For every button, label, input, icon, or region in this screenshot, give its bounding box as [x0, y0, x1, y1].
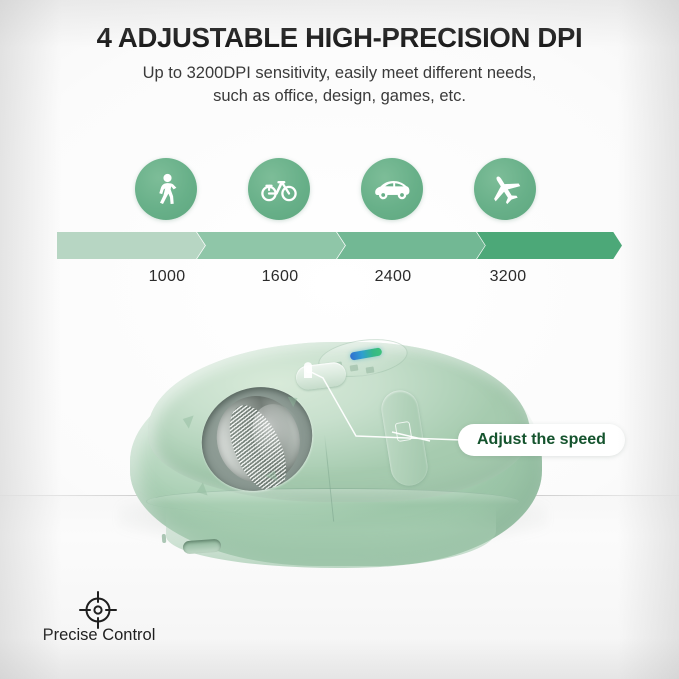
subtitle-line-2: such as office, design, games, etc.	[0, 85, 679, 108]
dpi-segment-2	[197, 232, 345, 259]
usb-c-port	[183, 539, 222, 555]
subtitle-line-1: Up to 3200DPI sensitivity, easily meet d…	[0, 62, 679, 85]
footer-label: Precise Control	[24, 626, 174, 645]
led-mini-2	[350, 364, 359, 371]
mouse-front-skirt	[166, 506, 496, 568]
car-icon	[373, 178, 411, 200]
dpi-label-2400: 2400	[375, 268, 412, 286]
side-button-notch	[395, 421, 413, 442]
dpi-icon-airplane	[474, 158, 536, 220]
dpi-label-1000: 1000	[149, 268, 186, 286]
walking-icon	[151, 173, 181, 205]
charging-led	[162, 534, 167, 543]
page-title: 4 ADJUSTABLE HIGH-PRECISION DPI	[0, 22, 679, 54]
callout-adjust-speed: Adjust the speed	[458, 424, 625, 456]
led-mini-3	[366, 366, 375, 373]
dpi-icon-row	[0, 158, 679, 224]
dpi-segment-3	[337, 232, 485, 259]
dpi-icon-walking	[135, 158, 197, 220]
dpi-label-3200: 3200	[490, 268, 527, 286]
airplane-icon	[488, 173, 522, 205]
dpi-value-labels: 1000 1600 2400 3200	[0, 268, 679, 290]
bicycle-icon	[261, 176, 297, 202]
dpi-label-1600: 1600	[262, 268, 299, 286]
dpi-segment-4	[477, 232, 622, 259]
dpi-icon-car	[361, 158, 423, 220]
product-infographic: 4 ADJUSTABLE HIGH-PRECISION DPI Up to 32…	[0, 0, 679, 679]
dpi-segment-1	[57, 232, 205, 259]
dpi-icon-bicycle	[248, 158, 310, 220]
page-subtitle: Up to 3200DPI sensitivity, easily meet d…	[0, 62, 679, 108]
dpi-gradient-bar	[57, 232, 622, 259]
